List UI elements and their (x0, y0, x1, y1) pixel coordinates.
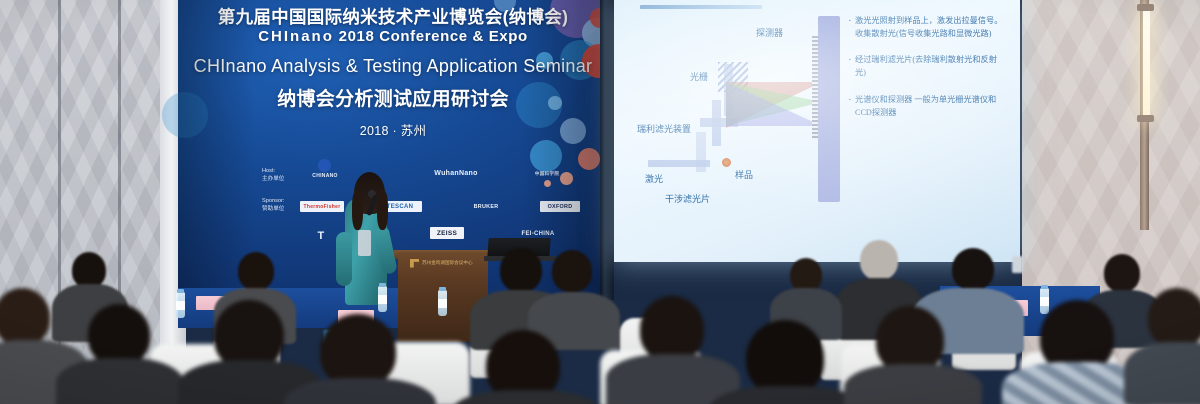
head (500, 248, 542, 292)
sconce-bracket-bottom (1137, 115, 1154, 122)
head (790, 258, 822, 292)
water-bottle (1040, 288, 1049, 314)
phone-icon (1012, 256, 1023, 273)
venue-logo-icon (410, 259, 419, 268)
head (320, 314, 396, 388)
head (1104, 254, 1140, 292)
shoulders (452, 390, 600, 404)
wall-light-icon (1143, 8, 1150, 118)
head (72, 252, 106, 288)
head (640, 296, 704, 362)
speaker-badge (358, 230, 371, 256)
shoulders (56, 358, 184, 404)
venue-plate: 苏州金鸡湖国际会议中心 (410, 256, 480, 270)
head (746, 320, 824, 396)
speaker-arm-left (336, 232, 352, 286)
speaker-hair-right (377, 190, 388, 230)
head (88, 304, 150, 366)
head (860, 240, 898, 280)
water-bottle (438, 290, 447, 316)
shoulders (1124, 342, 1200, 404)
conference-photo: 第九届中国国际纳米技术产业博览会(纳博会) CHInano 2018 Confe… (0, 0, 1200, 404)
shoulders (844, 364, 982, 404)
speaker-hair-left (352, 190, 363, 230)
sconce-bracket-top (1137, 4, 1154, 11)
water-bottle (378, 286, 387, 312)
head (0, 288, 50, 346)
head (238, 252, 274, 290)
head (1148, 288, 1200, 348)
screen-glare (614, 0, 1020, 262)
venue-plate-text: 苏州金鸡湖国际会议中心 (422, 260, 473, 266)
head (952, 248, 994, 290)
head (552, 250, 592, 292)
screen-frame-edge (600, 0, 614, 300)
water-bottle (176, 292, 185, 318)
